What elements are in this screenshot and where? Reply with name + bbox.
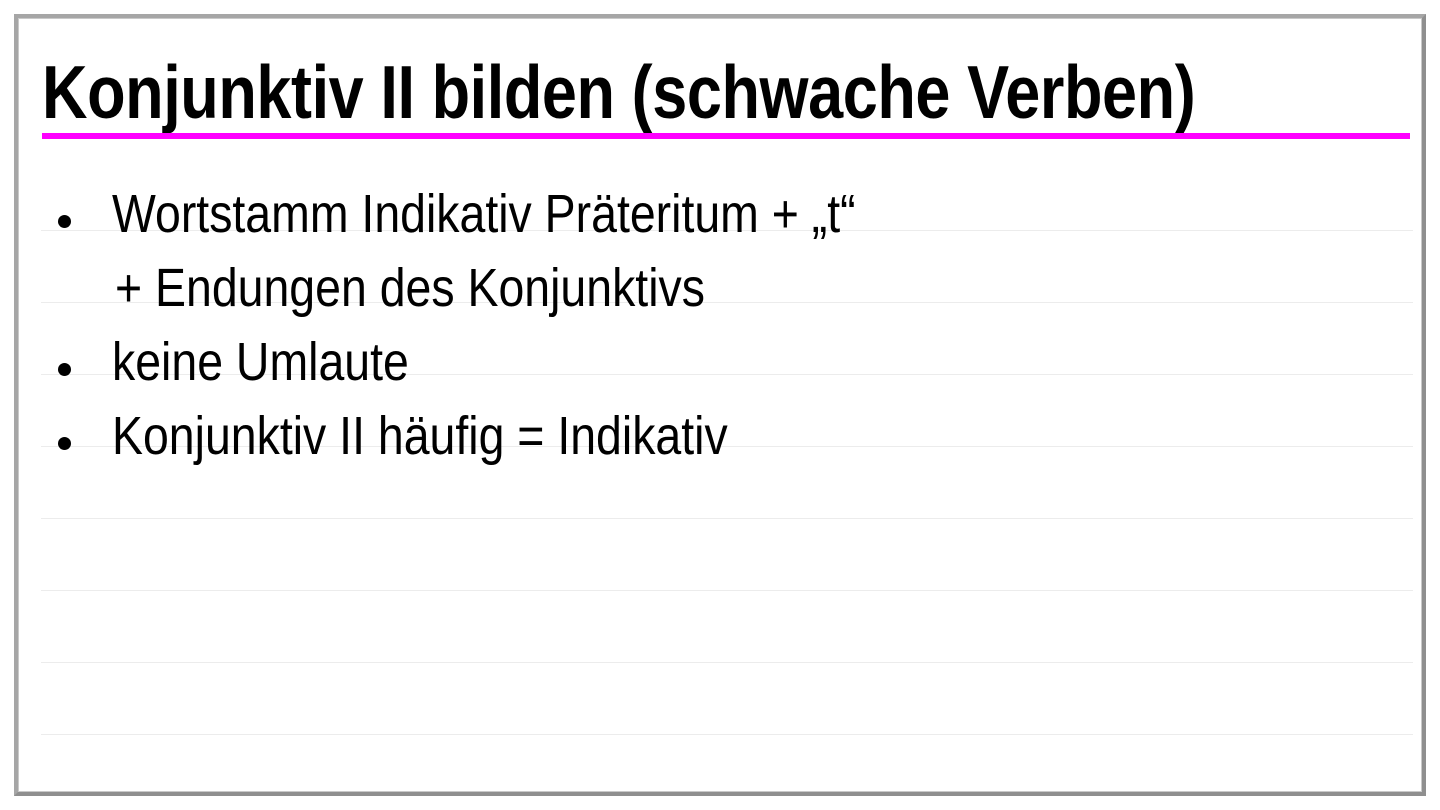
list-item: Konjunktiv II häufig = Indikativ xyxy=(42,401,1412,475)
bullet-icon xyxy=(58,437,71,450)
list-item: Wortstamm Indikativ Präteritum + „t“ xyxy=(42,179,1412,253)
list-item-empty xyxy=(42,697,1412,771)
title-underline-bar xyxy=(42,133,1410,139)
list-item-empty xyxy=(42,623,1412,697)
list-item-empty xyxy=(42,475,1412,549)
bullet-icon xyxy=(58,363,71,376)
list-item-label: keine Umlaute xyxy=(112,327,409,397)
slide-frame: Konjunktiv II bilden (schwache Verben) W… xyxy=(14,14,1426,796)
bullet-list: Wortstamm Indikativ Präteritum + „t“ + E… xyxy=(42,179,1412,771)
list-item-empty xyxy=(42,549,1412,623)
slide-canvas: Konjunktiv II bilden (schwache Verben) W… xyxy=(19,19,1421,791)
list-item-label: Wortstamm Indikativ Präteritum + „t“ xyxy=(112,179,856,249)
list-item: keine Umlaute xyxy=(42,327,1412,401)
list-item-label: Konjunktiv II häufig = Indikativ xyxy=(112,401,728,471)
bullet-icon xyxy=(58,215,71,228)
page-title: Konjunktiv II bilden (schwache Verben) xyxy=(42,51,1193,133)
slide-title-block: Konjunktiv II bilden (schwache Verben) xyxy=(42,51,1412,133)
list-item-label: + Endungen des Konjunktivs xyxy=(115,253,705,323)
list-item: + Endungen des Konjunktivs xyxy=(42,253,1412,327)
